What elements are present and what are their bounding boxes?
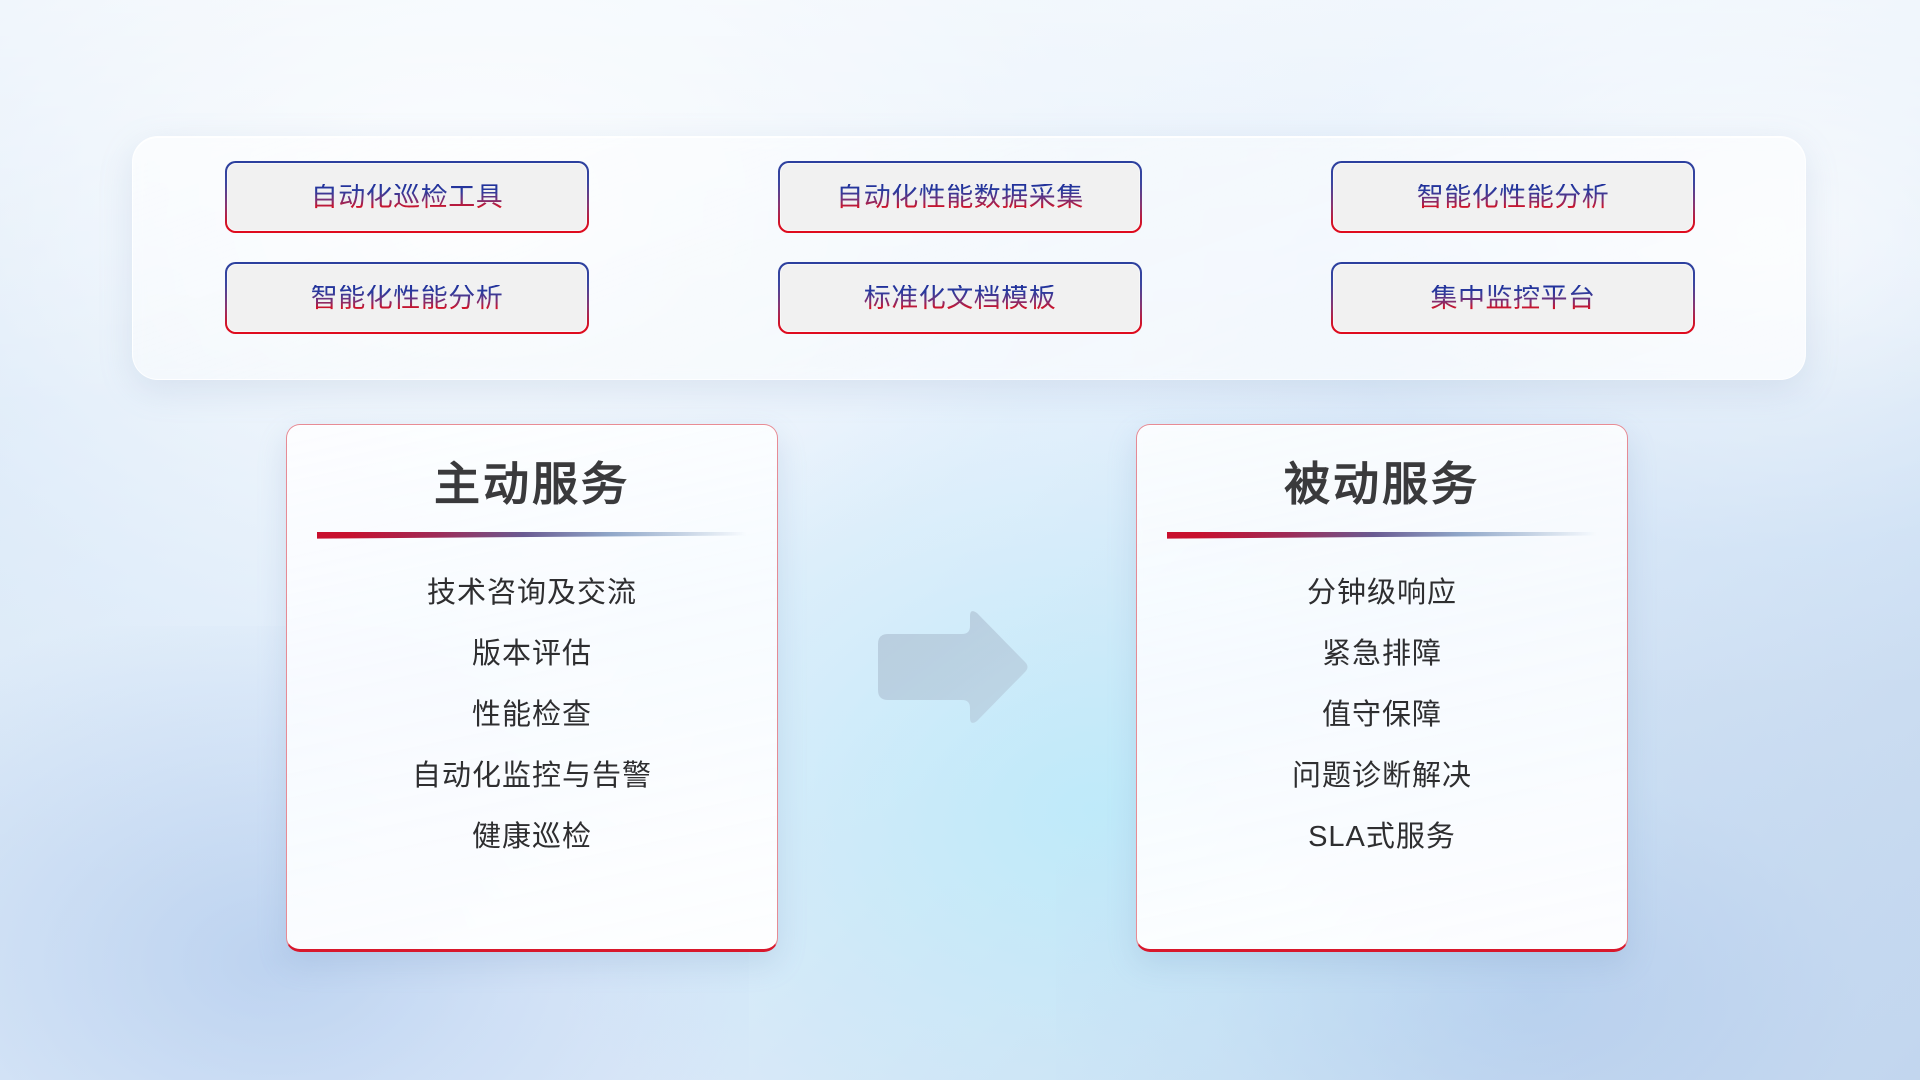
list-item: 问题诊断解决	[1137, 762, 1627, 791]
list-item: 版本评估	[287, 640, 777, 669]
capability-pill-4[interactable]: 智能化性能分析	[227, 264, 587, 332]
capability-pill-5[interactable]: 标准化文档模板	[780, 264, 1140, 332]
capability-pill-label: 智能化性能分析	[1417, 184, 1610, 211]
list-item: 紧急排障	[1137, 640, 1627, 669]
capability-pill-label: 标准化文档模板	[864, 285, 1057, 312]
capability-pill-1[interactable]: 自动化巡检工具	[227, 163, 587, 231]
arrow-right-icon	[872, 608, 1032, 728]
list-item: 值守保障	[1137, 701, 1627, 730]
card-title: 主动服务	[287, 459, 777, 510]
card-divider	[317, 532, 747, 539]
capability-pill-3[interactable]: 智能化性能分析	[1333, 163, 1693, 231]
capability-pill-6[interactable]: 集中监控平台	[1333, 264, 1693, 332]
capability-pill-2[interactable]: 自动化性能数据采集	[780, 163, 1140, 231]
capability-grid: 自动化巡检工具 自动化性能数据采集 智能化性能分析 智能化性能分析 标准化文档模…	[227, 163, 1717, 332]
list-item: 自动化监控与告警	[287, 762, 777, 791]
list-item: 分钟级响应	[1137, 579, 1627, 608]
list-item: 性能检查	[287, 701, 777, 730]
service-card-passive: 被动服务 分钟级响应 紧急排障 值守保障 问题诊断解决 SLA式服务	[1136, 424, 1628, 952]
card-divider-bar	[317, 532, 747, 539]
capability-pill-label: 自动化性能数据采集	[836, 184, 1084, 211]
list-item: SLA式服务	[1137, 823, 1627, 852]
service-card-active: 主动服务 技术咨询及交流 版本评估 性能检查 自动化监控与告警 健康巡检	[286, 424, 778, 952]
capability-pill-label: 智能化性能分析	[311, 285, 504, 312]
capability-panel: 自动化巡检工具 自动化性能数据采集 智能化性能分析 智能化性能分析 标准化文档模…	[132, 136, 1806, 380]
capability-pill-label: 集中监控平台	[1431, 285, 1596, 312]
card-divider	[1167, 532, 1597, 539]
card-title: 被动服务	[1137, 459, 1627, 510]
list-item: 健康巡检	[287, 823, 777, 852]
capability-pill-label: 自动化巡检工具	[311, 184, 504, 211]
card-divider-bar	[1167, 532, 1597, 539]
service-item-list: 技术咨询及交流 版本评估 性能检查 自动化监控与告警 健康巡检	[287, 579, 777, 852]
list-item: 技术咨询及交流	[287, 579, 777, 608]
slide-canvas: 自动化巡检工具 自动化性能数据采集 智能化性能分析 智能化性能分析 标准化文档模…	[0, 0, 1920, 1080]
service-item-list: 分钟级响应 紧急排障 值守保障 问题诊断解决 SLA式服务	[1137, 579, 1627, 852]
